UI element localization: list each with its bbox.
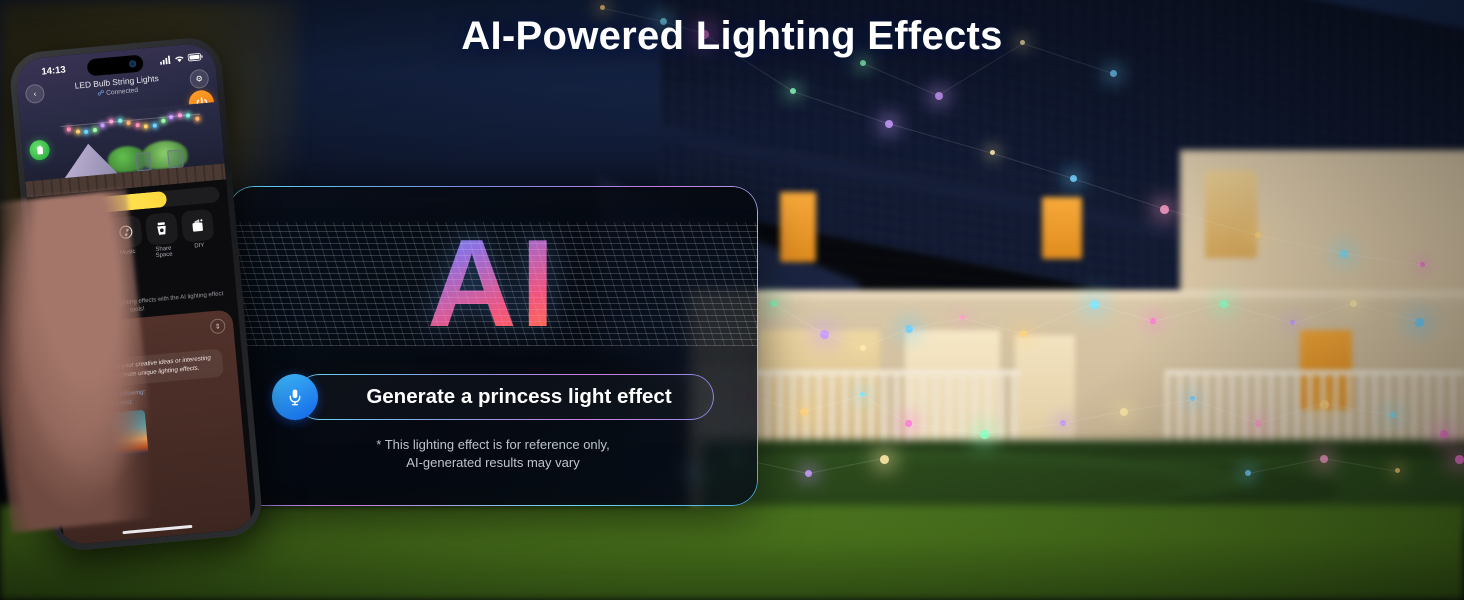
- control-panel: Timer 50% Colo: [27, 179, 258, 546]
- status-time: 14:13: [41, 64, 66, 77]
- phone-mockup: 14:13 LED Bulb String Lights ☍ Connected…: [8, 35, 264, 552]
- mode-share-space-label: Share Space: [148, 245, 180, 260]
- mode-grid-row2: AI More: [41, 260, 111, 305]
- bluetooth-icon: ☍: [97, 90, 105, 98]
- timer-button[interactable]: Timer: [35, 199, 76, 219]
- bot-avatar-icon: [55, 364, 71, 380]
- chat-toolbar: ◉ ◷: [53, 330, 90, 348]
- connection-label: Connected: [106, 87, 138, 97]
- app-header: 14:13 LED Bulb String Lights ☍ Connected…: [14, 42, 224, 178]
- page-title: AI-Powered Lighting Effects: [0, 14, 1464, 59]
- brightness-slider-fill: [80, 191, 167, 215]
- scene-clapper-icon[interactable]: [73, 219, 107, 253]
- history-clock-icon[interactable]: ◷: [74, 330, 90, 346]
- brightness-value: 50%: [94, 196, 108, 213]
- disclaimer-line-2: AI-generated results may vary: [228, 454, 758, 472]
- mode-scene[interactable]: Scene: [73, 219, 108, 267]
- chevron-updown-icon[interactable]: ⇕: [210, 318, 226, 334]
- ai-robot-icon[interactable]: [41, 264, 75, 298]
- diy-paint-icon[interactable]: [181, 209, 215, 243]
- ai-logo: AI: [228, 222, 758, 346]
- mode-ai[interactable]: AI: [41, 264, 75, 306]
- more-dots-icon[interactable]: [77, 260, 111, 294]
- promo-banner: AI-Powered Lighting Effects AI Generate …: [0, 0, 1464, 600]
- mode-scene-label: Scene: [76, 251, 107, 260]
- prompt-text: Generate a princess light effect: [344, 374, 694, 420]
- voice-prompt-row[interactable]: Generate a princess light effect: [272, 374, 714, 420]
- mode-more[interactable]: More: [77, 260, 111, 302]
- timer-label: Timer: [49, 205, 65, 213]
- settings-ring-icon[interactable]: ◉: [53, 332, 69, 348]
- ai-logo-text: AI: [427, 215, 559, 353]
- share-space-icon[interactable]: [145, 212, 179, 246]
- disclaimer-line-1: * This lighting effect is for reference …: [228, 436, 758, 454]
- chair-2: [167, 149, 184, 168]
- mode-color-label: Color: [40, 255, 71, 264]
- sunset-sky-thumbnail[interactable]: [79, 410, 149, 460]
- mode-grid: Color Scene Music: [37, 208, 224, 269]
- microphone-icon[interactable]: [272, 374, 318, 420]
- mode-diy[interactable]: DIY: [181, 209, 216, 257]
- mode-color[interactable]: Color: [37, 222, 72, 270]
- mode-share-space[interactable]: Share Space: [145, 212, 180, 260]
- ai-chat-panel: ◉ ◷ ⇕ Share with me your creative ideas …: [45, 309, 252, 545]
- chair-1: [135, 152, 152, 171]
- mode-music-label: Music: [112, 248, 143, 257]
- mode-music[interactable]: Music: [109, 215, 144, 263]
- preview-string-lights: [20, 102, 219, 120]
- disclaimer: * This lighting effect is for reference …: [228, 436, 758, 471]
- bot-message: Share with me your creative ideas or int…: [74, 348, 224, 389]
- mode-diy-label: DIY: [184, 242, 215, 251]
- ai-feature-panel: AI Generate a princess light effect * Th…: [228, 186, 758, 506]
- music-note-icon[interactable]: [109, 215, 143, 249]
- status-badge[interactable]: [29, 139, 51, 161]
- chat-suggestion: Try to send the following: Put me in the…: [77, 388, 147, 413]
- color-circles-icon[interactable]: [37, 222, 71, 256]
